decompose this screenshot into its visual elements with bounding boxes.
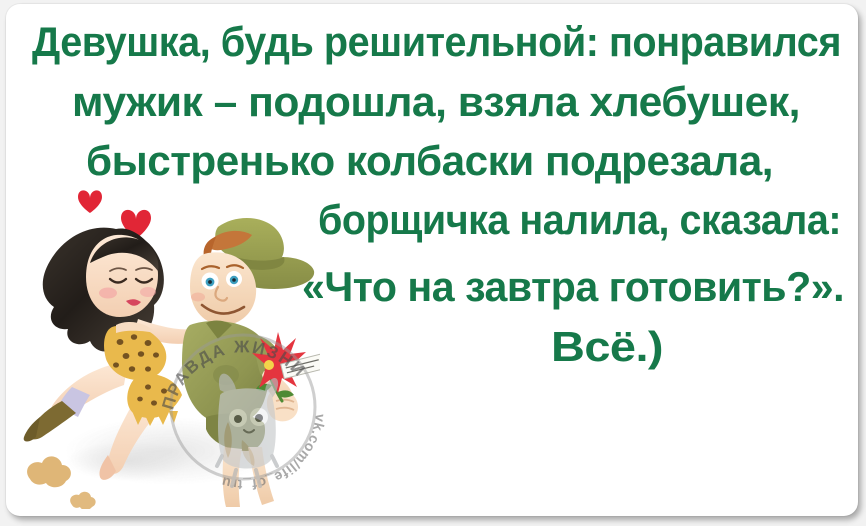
meme-card: ПРАВДА ЖИЗНИ vk.com/life_of_true (6, 4, 858, 516)
quote-line-1: Девушка, будь решительной: понравился (32, 18, 841, 66)
cat-mascot-icon (217, 374, 278, 486)
quote-line-2: мужик – подошла, взяла хлебушек, (72, 78, 800, 126)
quote-line-4: борщичка налила, сказала: (318, 196, 841, 244)
quote-line-3: быстренько колбаски подрезала, (86, 137, 773, 185)
quote-line-5: «Что на завтра готовить?». (302, 263, 844, 311)
quote-line-6: Всё.) (551, 323, 663, 371)
watermark-logo: ПРАВДА ЖИЗНИ vk.com/life_of_true (158, 322, 328, 492)
woman-head (86, 235, 158, 317)
heart-icon-small (78, 190, 102, 213)
